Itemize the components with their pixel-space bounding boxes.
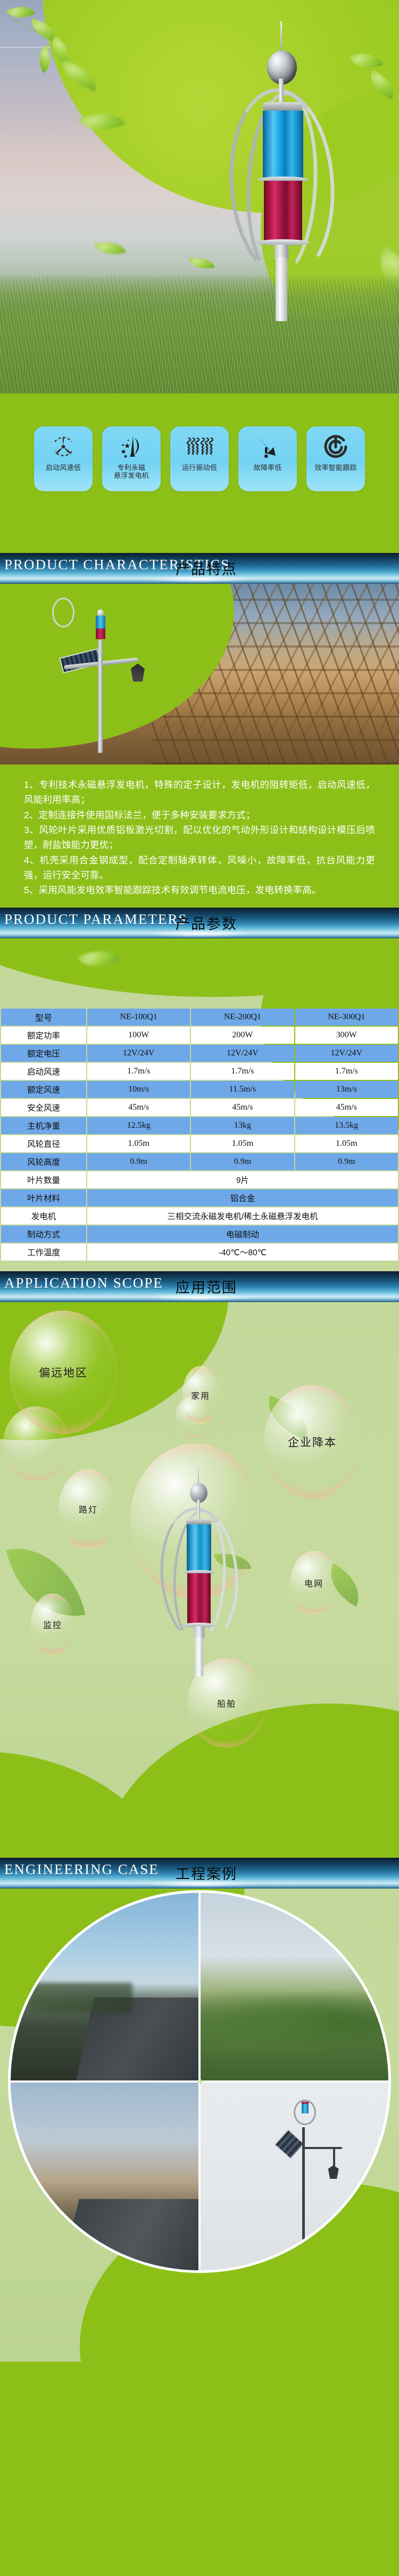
- table-cell: 1.7m/s: [191, 1063, 294, 1080]
- table-cell: 200W: [191, 1027, 294, 1044]
- scope-bubble-label: 偏远地区: [39, 1364, 88, 1380]
- feature-label: 故障率低: [254, 464, 282, 472]
- table-cell: 100W: [87, 1027, 190, 1044]
- fan-blade-icon: [48, 432, 78, 462]
- patent-magnet-icon: [117, 432, 146, 462]
- table-cell: 11.5m/s: [191, 1081, 294, 1098]
- table-cell: 45m/s: [295, 1099, 398, 1116]
- table-row-label: 额定功率: [1, 1027, 86, 1044]
- table-cell: 1.7m/s: [87, 1063, 190, 1080]
- scope-bubble-household[interactable]: 家用: [182, 1366, 219, 1424]
- wind-turbine-icon: [160, 1462, 239, 1690]
- banner-title-cn: 产品参数: [176, 912, 237, 933]
- characteristics-text: 1、专利技术永磁悬浮发电机，特殊的定子设计，发电机的阻转矩低，启动风速低，风能利…: [0, 765, 399, 908]
- table-row-label: 叶片材料: [1, 1189, 86, 1206]
- table-cell: 铝合金: [87, 1189, 398, 1206]
- feature-icon-strip: 启动风速低 专利永磁: [0, 393, 399, 553]
- specification-table: 型号NE-100Q1NE-200Q1NE-300Q1额定功率100W200W30…: [0, 1008, 399, 1262]
- feature-label: 运行振动低: [182, 464, 217, 472]
- table-cell: 9片: [87, 1171, 398, 1188]
- table-cell: 1.7m/s: [295, 1063, 398, 1080]
- table-cell: 1.05m: [191, 1135, 294, 1152]
- feature-card-startup-wind-speed[interactable]: 启动风速低: [34, 426, 93, 491]
- efficiency-target-icon: [321, 432, 351, 462]
- scope-bubble-label: 企业降本: [288, 1434, 337, 1450]
- streetlight-with-turbine-icon: [51, 593, 157, 753]
- feature-label: 专利永磁 悬浮发电机: [114, 464, 149, 480]
- application-scope-section: 偏远地区 家用 企业降本 路灯 电网 监控 船舶: [0, 1302, 399, 1858]
- banner-title-en-reflection: ENGINEERING CASE: [4, 1866, 159, 1876]
- leaf-decoration: [6, 0, 36, 25]
- banner-title-en-reflection: APPLICATION SCOPE: [4, 1279, 163, 1289]
- table-row-label: 工作温度: [1, 1244, 86, 1261]
- table-row-label: 风轮直径: [1, 1135, 86, 1152]
- table-cell: 12.5kg: [87, 1117, 190, 1134]
- table-row-label: 发电机: [1, 1207, 86, 1224]
- hero-banner: [0, 0, 399, 393]
- table-row-label: 主机净重: [1, 1117, 86, 1134]
- table-row-label: 额定电压: [1, 1045, 86, 1062]
- grass-field: [0, 276, 399, 393]
- installation-photo: [0, 584, 399, 765]
- table-cell: 1.05m: [87, 1135, 190, 1152]
- table-row: 额定功率100W200W300W: [1, 1027, 398, 1044]
- table-row-label: 额定风速: [1, 1081, 86, 1098]
- banner-engineering-case: ENGINEERING CASE ENGINEERING CASE 工程案例: [0, 1858, 399, 1889]
- leaf-decoration: [188, 254, 215, 272]
- scope-bubble-power-grid[interactable]: 电网: [290, 1551, 337, 1615]
- table-row: 发电机三相交流永磁发电机/稀土永磁悬浮发电机: [1, 1207, 398, 1224]
- table-header-row: 型号NE-100Q1NE-200Q1NE-300Q1: [1, 1009, 398, 1026]
- table-row: 工作温度-40℃～80℃: [1, 1244, 398, 1261]
- table-row: 风轮直径1.05m1.05m1.05m: [1, 1135, 398, 1152]
- banner-title-cn: 应用范围: [176, 1276, 237, 1297]
- characteristic-item: 2、定制连接件使用国标法兰，便于多种安装要求方式；: [24, 808, 375, 823]
- table-row: 叶片数量9片: [1, 1171, 398, 1188]
- table-row-label: 风轮高度: [1, 1153, 86, 1170]
- feature-card-low-failure-rate[interactable]: 故障率低: [238, 426, 297, 491]
- banner-title-en-reflection: PRODUCT PARAMETERS: [4, 916, 187, 926]
- scope-bubble-label: 监控: [43, 1618, 62, 1631]
- fault-arrow-down-icon: [253, 432, 282, 462]
- table-cell: 12V/24V: [295, 1045, 398, 1062]
- characteristic-item: 3、风轮叶片采用优质铝板激光切割，配以优化的气动外形设计和结构设计模压后喷塑，耐…: [24, 823, 375, 853]
- product-detail-page: 启动风速低 专利永磁: [0, 0, 399, 2576]
- table-cell: 1.05m: [295, 1135, 398, 1152]
- banner-product-characteristics: PRODUCT CHARACTERISTICS PRODUCT CHARACTE…: [0, 553, 399, 584]
- case-photo[interactable]: [201, 2083, 388, 2270]
- characteristic-item: 1、专利技术永磁悬浮发电机，特殊的定子设计，发电机的阻转矩低，启动风速低，风能利…: [24, 777, 375, 808]
- table-cell: 三相交流永磁发电机/稀土永磁悬浮发电机: [87, 1207, 398, 1224]
- parameters-section: 型号NE-100Q1NE-200Q1NE-300Q1额定功率100W200W30…: [0, 938, 399, 1271]
- table-cell: 12V/24V: [191, 1045, 294, 1062]
- table-header-model: NE-200Q1: [191, 1009, 294, 1026]
- table-row: 风轮高度0.9m0.9m0.9m: [1, 1153, 398, 1170]
- feature-card-patent-maglev-generator[interactable]: 专利永磁 悬浮发电机: [102, 426, 161, 491]
- leaf-decoration: [94, 237, 126, 259]
- characteristic-item: 4、机壳采用合金钢成型，配合定制轴承转体，风噪小，故障率低，抗台风能力更强，运行…: [24, 853, 375, 883]
- table-cell: 0.9m: [295, 1153, 398, 1170]
- scope-bubble-remote-area[interactable]: 偏远地区: [10, 1311, 117, 1434]
- banner-application-scope: APPLICATION SCOPE APPLICATION SCOPE 应用范围: [0, 1271, 399, 1302]
- table-cell: 12V/24V: [87, 1045, 190, 1062]
- table-row: 启动风速1.7m/s1.7m/s1.7m/s: [1, 1063, 398, 1080]
- table-cell: 13kg: [191, 1117, 294, 1134]
- table-row: 主机净重12.5kg13kg13.5kg: [1, 1117, 398, 1134]
- table-row-label: 启动风速: [1, 1063, 86, 1080]
- banner-product-parameters: PRODUCT PARAMETERS PRODUCT PARAMETERS 产品…: [0, 908, 399, 938]
- table-row: 额定电压12V/24V12V/24V12V/24V: [1, 1045, 398, 1062]
- collage-center-marker: [198, 2079, 203, 2084]
- table-row-label: 制动方式: [1, 1226, 86, 1243]
- table-cell: -40℃～80℃: [87, 1244, 398, 1261]
- feature-label: 启动风速低: [46, 464, 81, 472]
- table-cell: 45m/s: [191, 1099, 294, 1116]
- feature-card-smart-efficiency-tracking[interactable]: 效率智能跟踪: [306, 426, 365, 491]
- engineering-case-section: [0, 1889, 399, 2362]
- feature-list: 启动风速低 专利永磁: [0, 426, 399, 491]
- banner-title-cn: 产品特点: [176, 558, 237, 578]
- wind-turbine-icon: [229, 21, 335, 298]
- table-row-label: 安全风速: [1, 1099, 86, 1116]
- table-row: 安全风速45m/s45m/s45m/s: [1, 1099, 398, 1116]
- feature-card-low-vibration[interactable]: 运行振动低: [170, 426, 229, 491]
- table-row-label: 叶片数量: [1, 1171, 86, 1188]
- table-cell: 电磁制动: [87, 1226, 398, 1243]
- table-header-model: NE-100Q1: [87, 1009, 190, 1026]
- case-photo[interactable]: [11, 2083, 198, 2270]
- table-cell: 13m/s: [295, 1081, 398, 1098]
- table-row: 叶片材料铝合金: [1, 1189, 398, 1206]
- table-cell: 10m/s: [87, 1081, 190, 1098]
- scope-bubble-enterprise-cost-reduction[interactable]: 企业降本: [264, 1385, 361, 1499]
- case-photo[interactable]: [11, 1893, 198, 2080]
- case-photo[interactable]: [201, 1893, 388, 2080]
- scope-bubble-streetlight[interactable]: 路灯: [59, 1469, 118, 1549]
- characteristic-item: 5、采用风能发电效率智能跟踪技术有效调节电流电压，发电转换率高。: [24, 883, 375, 897]
- table-row: 额定风速10m/s11.5m/s13m/s: [1, 1081, 398, 1098]
- table-cell: 45m/s: [87, 1099, 190, 1116]
- table-row: 制动方式电磁制动: [1, 1226, 398, 1243]
- hybrid-streetlight-icon: [283, 2097, 369, 2263]
- banner-title-cn: 工程案例: [176, 1862, 237, 1883]
- table-cell: 300W: [295, 1027, 398, 1044]
- scope-bubble-label: 船舶: [217, 1697, 236, 1709]
- vibration-wave-icon: [185, 432, 214, 462]
- table-cell: 0.9m: [87, 1153, 190, 1170]
- table-header-label: 型号: [1, 1009, 86, 1026]
- scope-bubble-label: 家用: [191, 1389, 210, 1402]
- scope-bubble-label: 路灯: [79, 1503, 98, 1515]
- scope-bubble-monitoring[interactable]: 监控: [31, 1593, 74, 1655]
- table-header-model: NE-300Q1: [295, 1009, 398, 1026]
- table-cell: 0.9m: [191, 1153, 294, 1170]
- table-cell: 13.5kg: [295, 1117, 398, 1134]
- feature-label: 效率智能跟踪: [314, 464, 356, 472]
- scope-bubble-label: 电网: [304, 1576, 323, 1589]
